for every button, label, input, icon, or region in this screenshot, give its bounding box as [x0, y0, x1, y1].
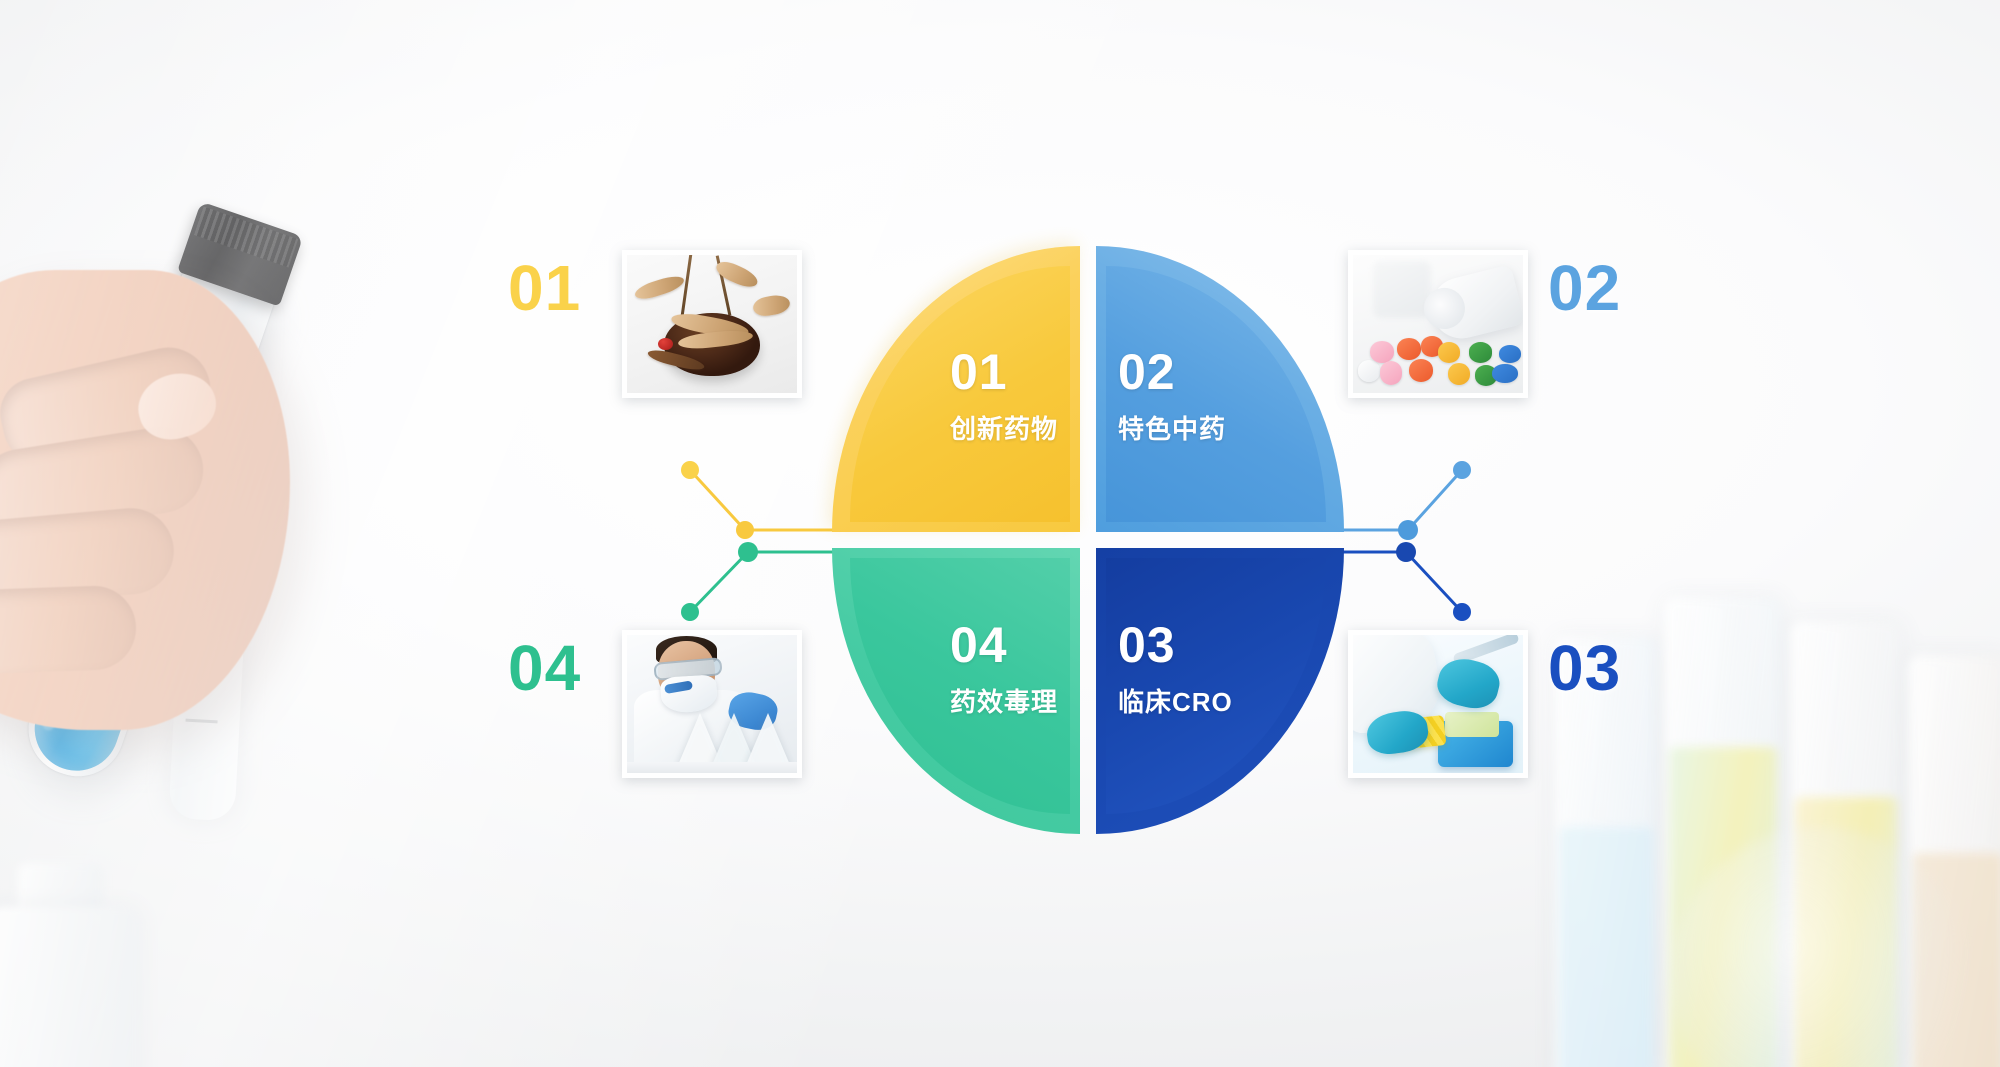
thumbnail-colored-pills-image [1353, 255, 1523, 393]
quadrant-01-text: 创新药物 [950, 409, 1058, 446]
thumbnail-scientist-flasks[interactable] [622, 630, 802, 778]
quadrant-02-number: 02 [1118, 347, 1226, 397]
quadrant-04-label-group: 04 药效毒理 [950, 620, 1058, 719]
quadrant-03-clinical-cro[interactable]: 03 临床CRO [1096, 548, 1344, 834]
thumbnail-tcm-herbs-image [627, 255, 797, 393]
connector-right-lower-diagonal [1406, 552, 1462, 612]
connector-right-upper-diagonal [1408, 470, 1462, 530]
connector-node-left-upper-inner [736, 521, 754, 539]
connector-node-right-upper-outer [1453, 461, 1471, 479]
quadrant-01-innovative-drugs[interactable]: 01 创新药物 [832, 246, 1080, 532]
quadrant-04-pharmacology-toxicology[interactable]: 04 药效毒理 [832, 548, 1080, 834]
quadrant-04-number: 04 [950, 620, 1058, 670]
outer-number-02: 02 [1548, 256, 1621, 320]
connector-node-left-upper-outer [681, 461, 699, 479]
quadrant-03-number: 03 [1118, 620, 1233, 670]
thumbnail-tcm-herbs[interactable] [622, 250, 802, 398]
quadrant-03-text: 临床CRO [1118, 682, 1233, 719]
connector-node-left-lower-inner [738, 542, 758, 562]
quadrant-01-label-group: 01 创新药物 [950, 347, 1058, 446]
quadrant-wheel: 01 创新药物 02 特色中药 03 临床CRO 04 药效毒理 [832, 246, 1344, 834]
connector-node-right-lower-outer [1453, 603, 1471, 621]
quadrant-01-number: 01 [950, 347, 1058, 397]
connector-node-right-lower-inner [1396, 542, 1416, 562]
outer-number-01: 01 [508, 256, 581, 320]
thumbnail-colored-pills[interactable] [1348, 250, 1528, 398]
infographic: 01 创新药物 02 特色中药 03 临床CRO 04 药效毒理 [0, 0, 2000, 1067]
connector-left-lower-diagonal [690, 552, 748, 612]
quadrant-02-text: 特色中药 [1118, 409, 1226, 446]
quadrant-02-label-group: 02 特色中药 [1118, 347, 1226, 446]
thumbnail-gloved-hands-samples[interactable] [1348, 630, 1528, 778]
quadrant-03-label-group: 03 临床CRO [1118, 620, 1233, 719]
outer-number-03: 03 [1548, 636, 1621, 700]
thumbnail-scientist-flasks-image [627, 635, 797, 773]
connector-node-right-upper-inner [1398, 520, 1418, 540]
connector-node-left-lower-outer [681, 603, 699, 621]
outer-number-04: 04 [508, 636, 581, 700]
thumbnail-gloved-hands-samples-image [1353, 635, 1523, 773]
quadrant-04-text: 药效毒理 [950, 682, 1058, 719]
quadrant-02-featured-tcm[interactable]: 02 特色中药 [1096, 246, 1344, 532]
connector-left-upper-diagonal [690, 470, 745, 530]
